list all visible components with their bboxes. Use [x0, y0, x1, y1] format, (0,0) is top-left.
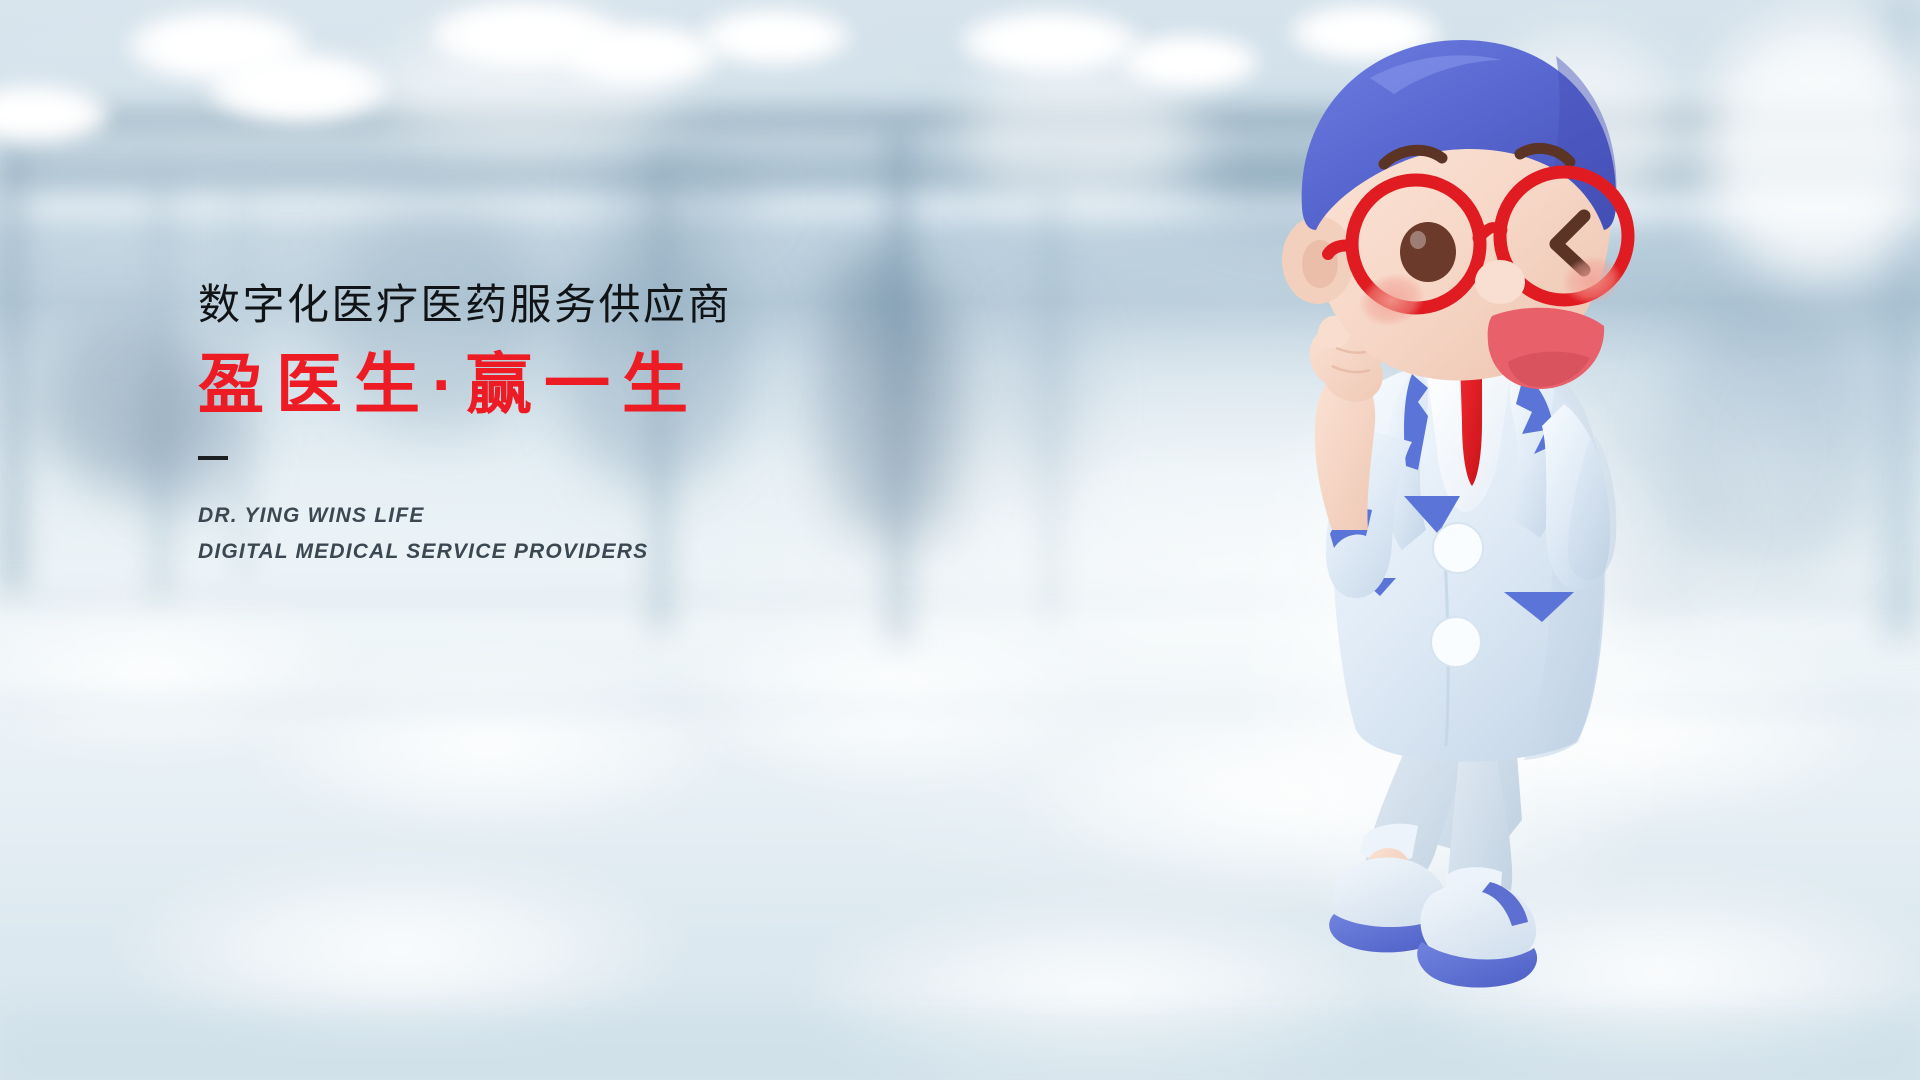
- nose: [1475, 260, 1525, 304]
- hero-banner: 数字化医疗医药服务供应商 盈医生·赢一生 DR. YING WINS LIFE …: [0, 0, 1920, 1080]
- hero-english-line-1: DR. YING WINS LIFE: [198, 498, 732, 534]
- hero-title: 盈医生·赢一生: [198, 348, 732, 422]
- hero-divider: [198, 456, 228, 460]
- hero-english-line-2: DIGITAL MEDICAL SERVICE PROVIDERS: [198, 534, 732, 570]
- eye-open: [1400, 222, 1456, 282]
- hero-headline: 数字化医疗医药服务供应商: [198, 282, 732, 328]
- hero-text-block: 数字化医疗医药服务供应商 盈医生·赢一生 DR. YING WINS LIFE …: [198, 282, 732, 570]
- hero-english-block: DR. YING WINS LIFE DIGITAL MEDICAL SERVI…: [198, 498, 732, 570]
- doctor-mascot-illustration: [1160, 30, 1720, 1050]
